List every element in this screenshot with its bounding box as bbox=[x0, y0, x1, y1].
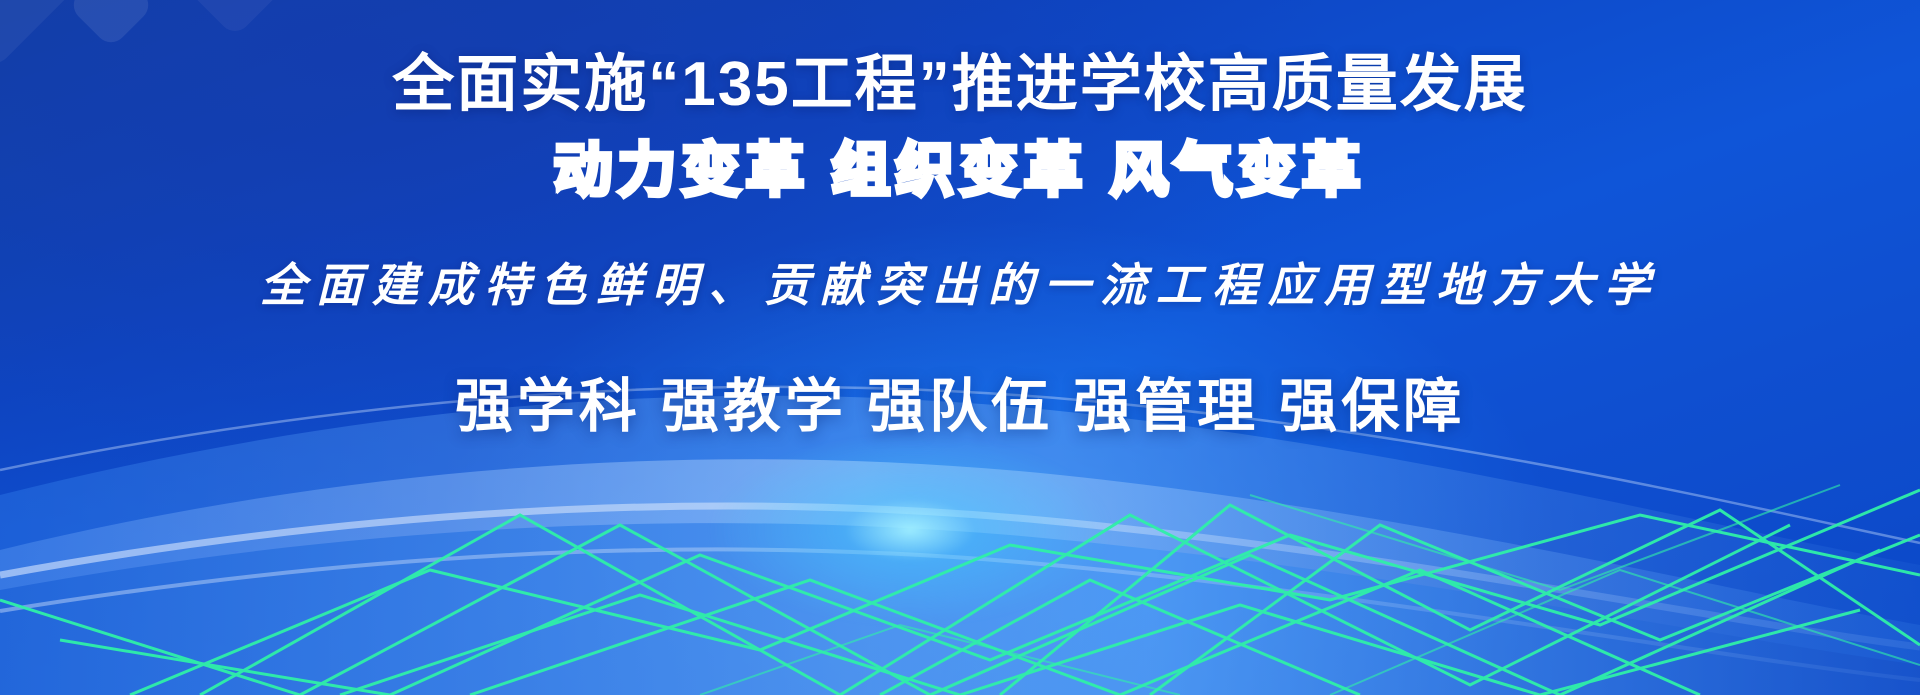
headline: 全面实施“135工程”推进学校高质量发展 bbox=[392, 52, 1527, 117]
banner-text-content: 全面实施“135工程”推进学校高质量发展 动力变革 组织变革 风气变革 全面建成… bbox=[0, 0, 1920, 695]
banner-root: 全面实施“135工程”推进学校高质量发展 动力变革 组织变革 风气变革 全面建成… bbox=[0, 0, 1920, 695]
subheadline: 动力变革 组织变革 风气变革 bbox=[554, 139, 1366, 203]
slogan-row: 强学科 强教学 强队伍 强管理 强保障 bbox=[455, 359, 1465, 443]
vision-statement: 全面建成特色鲜明、贡献突出的一流工程应用型地方大学 bbox=[260, 249, 1660, 315]
